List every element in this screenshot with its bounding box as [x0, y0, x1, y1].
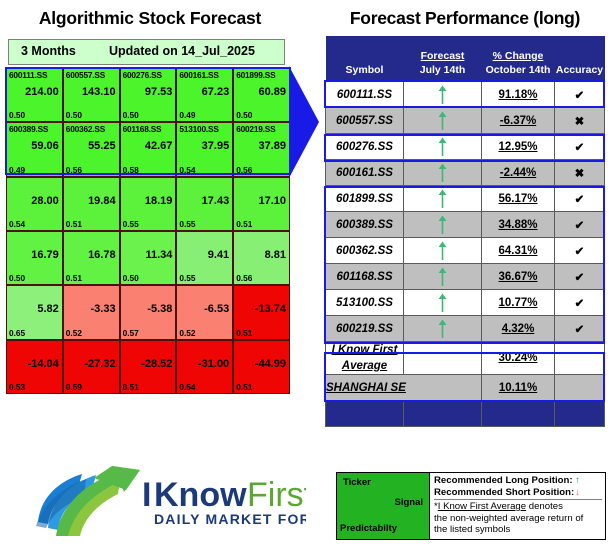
forecast-period-bar: 3 Months Updated on 14_Jul_2025: [8, 39, 285, 65]
cell-average-change: 30.24%: [482, 342, 555, 375]
cell-accuracy-check-icon: ✔: [555, 134, 605, 160]
heatmap-cell-predictability: 0.49: [179, 110, 195, 120]
cell-forecast-signal: [404, 160, 482, 186]
cell-forecast-signal: [404, 186, 482, 212]
heatmap-cell-predictability: 0.51: [236, 328, 252, 338]
heatmap-cell: -28.520.51: [120, 340, 177, 394]
heatmap-cell-signal: 59.06: [31, 140, 59, 152]
legend-down-arrow-icon: ↓: [575, 487, 580, 499]
cell-percent-change: 10.77%: [482, 290, 555, 316]
heatmap-cell-signal: 5.82: [37, 303, 58, 315]
heatmap-cell-signal: 214.00: [25, 86, 59, 98]
heatmap-cell: 600557.SS143.100.50: [63, 68, 120, 122]
cell-percent-change-value: -2.44%: [500, 167, 536, 179]
cell-percent-change-value: 64.31%: [498, 245, 537, 257]
up-arrow-icon: [437, 189, 448, 209]
legend-divider: [434, 499, 602, 500]
cell-percent-change: 36.67%: [482, 264, 555, 290]
heatmap-cell-signal: -44.99: [255, 358, 286, 370]
column-header-forecast-top: Forecast: [404, 50, 482, 64]
column-header-forecast-bottom: July 14th: [404, 64, 482, 81]
heatmap-cell: -5.380.57: [120, 285, 177, 339]
cell-average-accuracy: [555, 342, 605, 375]
heatmap-cell: 16.790.50: [6, 231, 63, 285]
up-arrow-icon: [437, 267, 448, 287]
cell-symbol: 601899.SS: [326, 186, 404, 212]
heatmap-cell: -31.000.54: [176, 340, 233, 394]
legend-long-position-line: Recommended Long Position: ↑: [434, 475, 602, 487]
heatmap-cell: 600219.SS37.890.56: [233, 122, 290, 176]
iknowfirst-logo-icon: I Know First DAILY MARKET FORECAST: [34, 466, 306, 540]
cell-forecast-signal: [404, 264, 482, 290]
forecast-performance-panel: Forecast Performance (long) Symbol Forec…: [322, 0, 607, 460]
heatmap-cell-predictability: 0.50: [123, 110, 139, 120]
heatmap-cell-predictability: 0.49: [9, 165, 25, 175]
heatmap-cell-predictability: 0.50: [236, 110, 252, 120]
heatmap-cell-signal: 8.81: [265, 249, 286, 261]
svg-text:Know: Know: [154, 476, 247, 514]
cell-percent-change: 56.17%: [482, 186, 555, 212]
heatmap-cell-predictability: 0.65: [9, 328, 25, 338]
heatmap-cell: -6.530.52: [176, 285, 233, 339]
heatmap-cell-signal: 9.41: [208, 249, 229, 261]
heatmap-cell-predictability: 0.51: [236, 219, 252, 229]
cell-accuracy-check-icon: ✔: [555, 212, 605, 238]
cell-percent-change-value: 34.88%: [498, 219, 537, 231]
cell-average-label-line2: Average: [326, 358, 403, 374]
cell-index-accuracy: [555, 375, 605, 401]
heatmap-cell: 600111.SS214.000.50: [6, 68, 63, 122]
legend-short-position-text: Recommended Short Position:: [434, 487, 574, 498]
heatmap-cell-signal: 19.84: [88, 195, 116, 207]
cell-forecast-signal: [404, 290, 482, 316]
table-row-average: I Know FirstAverage30.24%: [326, 342, 605, 375]
legend-long-position-text: Recommended Long Position:: [434, 475, 573, 486]
heatmap-cell: 28.000.54: [6, 177, 63, 231]
heatmap-cell-signal: 17.43: [202, 195, 230, 207]
heatmap-cell-predictability: 0.55: [179, 219, 195, 229]
cell-average-label: I Know FirstAverage: [326, 342, 404, 375]
heatmap-cell-signal: 60.89: [258, 86, 286, 98]
heatmap-cell-signal: 11.34: [145, 249, 172, 261]
heatmap-cell-signal: -27.32: [84, 358, 115, 370]
heatmap-cell-predictability: 0.51: [123, 382, 139, 392]
legend-note: *I Know First Average denotes the non-we…: [434, 501, 602, 536]
heatmap-cell-signal: -5.38: [147, 303, 172, 315]
performance-table-body: 600111.SS91.18%✔600557.SS-6.37%✖600276.S…: [326, 82, 605, 427]
heatmap-cell-predictability: 0.52: [179, 328, 195, 338]
heatmap-cell-symbol: 513100.SS: [179, 124, 218, 134]
heatmap-cell-signal: 42.67: [145, 140, 173, 152]
heatmap-cell: -14.040.53: [6, 340, 63, 394]
cell-average-forecast: [404, 342, 482, 375]
table-footer-band: [326, 401, 605, 427]
column-header-symbol-label: Symbol: [326, 64, 404, 81]
table-row[interactable]: 600276.SS12.95%✔: [326, 134, 605, 160]
cell-percent-change-value: 4.32%: [502, 323, 535, 335]
legend-note-suffix: denotes: [526, 501, 563, 512]
heatmap-cell-signal: 67.23: [202, 86, 230, 98]
cell-accuracy-check-icon: ✔: [555, 238, 605, 264]
heatmap-cell-symbol: 600111.SS: [9, 70, 47, 80]
legend-up-arrow-icon: ↑: [575, 475, 580, 487]
heatmap-cell-predictability: 0.50: [9, 110, 25, 120]
heatmap-cell: 9.410.55: [176, 231, 233, 285]
legend-note-line3: the listed symbols: [434, 524, 510, 535]
cell-average-change-value: 30.24%: [498, 352, 537, 364]
cell-percent-change-value: 56.17%: [498, 193, 537, 205]
heatmap-cell: 600389.SS59.060.49: [6, 122, 63, 176]
heatmap-cell-predictability: 0.56: [66, 165, 82, 175]
svg-text:I: I: [142, 476, 151, 514]
up-arrow-icon: [437, 163, 448, 183]
heatmap-cell-predictability: 0.57: [123, 328, 139, 338]
heatmap-cell: 16.780.51: [63, 231, 120, 285]
heatmap-cell-predictability: 0.51: [66, 219, 82, 229]
up-arrow-icon: [437, 85, 448, 105]
legend-short-position-line: Recommended Short Position: ↓: [434, 487, 602, 499]
svg-text:First: First: [247, 476, 306, 514]
left-panel-title: Algorithmic Stock Forecast: [0, 8, 300, 29]
forecast-updated-label: Updated on 14_Jul_2025: [109, 44, 255, 58]
up-arrow-icon: [437, 111, 448, 131]
column-header-accuracy: Accuracy: [555, 36, 605, 82]
cell-percent-change: 34.88%: [482, 212, 555, 238]
heatmap-cell: 600161.SS67.230.49: [176, 68, 233, 122]
legend-box: Ticker Signal Predictabilty Recommended …: [336, 472, 606, 540]
cell-index-change: 10.11%: [482, 375, 555, 401]
heatmap-cell-symbol: 600276.SS: [123, 70, 162, 80]
heatmap-cell-signal: 55.25: [88, 140, 116, 152]
heatmap-cell-predictability: 0.54: [9, 219, 25, 229]
heatmap-cell: 8.810.56: [233, 231, 290, 285]
footer-cell: [555, 401, 605, 427]
footer-cell: [482, 401, 555, 427]
heatmap-cell-predictability: 0.53: [9, 382, 25, 392]
up-arrow-icon: [437, 215, 448, 235]
heatmap-cell: -13.740.51: [233, 285, 290, 339]
cell-forecast-signal: [404, 108, 482, 134]
heatmap-cell-signal: 143.10: [82, 86, 116, 98]
heatmap-cell: 17.430.55: [176, 177, 233, 231]
cell-symbol: 600389.SS: [326, 212, 404, 238]
cell-accuracy-check-icon: ✔: [555, 316, 605, 342]
cell-forecast-signal: [404, 82, 482, 108]
table-row[interactable]: 601168.SS36.67%✔: [326, 264, 605, 290]
svg-text:DAILY MARKET FORECAST: DAILY MARKET FORECAST: [154, 511, 306, 527]
heatmap-cell-signal: 16.79: [31, 249, 59, 261]
table-row-index: SHANGHAI SE10.11%: [326, 375, 605, 401]
forecast-heatmap: 600111.SS214.000.50600557.SS143.100.5060…: [6, 68, 290, 394]
algorithmic-forecast-panel: Algorithmic Stock Forecast 3 Months Upda…: [0, 0, 300, 400]
heatmap-cell-predictability: 0.52: [66, 328, 82, 338]
heatmap-cell-predictability: 0.58: [123, 165, 139, 175]
cell-symbol: 600219.SS: [326, 316, 404, 342]
heatmap-cell: 18.190.55: [120, 177, 177, 231]
cell-accuracy-check-icon: ✔: [555, 186, 605, 212]
heatmap-cell-predictability: 0.59: [66, 382, 82, 392]
heatmap-cell-signal: 16.78: [88, 249, 116, 261]
legend-description: Recommended Long Position: ↑ Recommended…: [430, 473, 605, 539]
cell-percent-change-value: 10.77%: [498, 297, 537, 309]
legend-note-line2: the non-weighted average return of: [434, 513, 583, 524]
table-row[interactable]: 600161.SS-2.44%✖: [326, 160, 605, 186]
heatmap-cell: -44.990.51: [233, 340, 290, 394]
column-header-accuracy-label: Accuracy: [555, 64, 605, 81]
heatmap-cell: -27.320.59: [63, 340, 120, 394]
table-row[interactable]: 600219.SS4.32%✔: [326, 316, 605, 342]
cell-symbol: 600111.SS: [326, 82, 404, 108]
up-arrow-icon: [437, 319, 448, 339]
cell-symbol: 601168.SS: [326, 264, 404, 290]
heatmap-cell: 601168.SS42.670.58: [120, 122, 177, 176]
performance-table: Symbol Forecast July 14th % Change Octob…: [325, 36, 605, 427]
up-arrow-icon: [437, 137, 448, 157]
right-panel-title: Forecast Performance (long): [320, 8, 610, 29]
heatmap-cell: 601899.SS60.890.50: [233, 68, 290, 122]
heatmap-cell-signal: -14.04: [28, 358, 59, 370]
cell-percent-change-value: 36.67%: [498, 271, 537, 283]
heatmap-cell-signal: 18.19: [145, 195, 173, 207]
column-header-symbol: Symbol: [326, 36, 404, 82]
heatmap-cell: 600276.SS97.530.50: [120, 68, 177, 122]
heatmap-cell-signal: -28.52: [141, 358, 172, 370]
legend-note-underlined: I Know First Average: [438, 501, 526, 512]
cell-percent-change-value: 91.18%: [498, 89, 537, 101]
table-row[interactable]: 513100.SS10.77%✔: [326, 290, 605, 316]
heatmap-cell-symbol: 600389.SS: [9, 124, 48, 134]
cell-accuracy-check-icon: ✔: [555, 290, 605, 316]
heatmap-cell-predictability: 0.54: [179, 382, 195, 392]
heatmap-cell-predictability: 0.56: [236, 165, 252, 175]
heatmap-cell-signal: 28.00: [31, 195, 59, 207]
cell-forecast-signal: [404, 238, 482, 264]
heatmap-cell: 11.340.50: [120, 231, 177, 285]
cell-accuracy-check-icon: ✔: [555, 82, 605, 108]
cell-index-label: SHANGHAI SE: [326, 375, 482, 401]
footer-cell: [404, 401, 482, 427]
heatmap-cell: 19.840.51: [63, 177, 120, 231]
cell-percent-change-value: -6.37%: [500, 115, 536, 127]
cell-average-label-line1: I Know First: [326, 342, 403, 358]
heatmap-cell-predictability: 0.51: [66, 273, 82, 283]
heatmap-cell-symbol: 600161.SS: [179, 70, 218, 80]
heatmap-cell: -3.330.52: [63, 285, 120, 339]
cell-percent-change: 91.18%: [482, 82, 555, 108]
cell-symbol: 600362.SS: [326, 238, 404, 264]
column-header-change: % Change October 14th: [482, 36, 555, 82]
cell-percent-change: -2.44%: [482, 160, 555, 186]
heatmap-cell-signal: 97.53: [145, 86, 173, 98]
cell-accuracy-cross-icon: ✖: [555, 160, 605, 186]
heatmap-cell: 513100.SS37.950.54: [176, 122, 233, 176]
column-header-change-bottom: October 14th: [482, 64, 555, 81]
heatmap-cell-predictability: 0.55: [179, 273, 195, 283]
heatmap-cell-predictability: 0.50: [9, 273, 25, 283]
up-arrow-icon: [437, 241, 448, 261]
legend-signal-label: Signal: [394, 497, 423, 508]
table-row[interactable]: 600362.SS64.31%✔: [326, 238, 605, 264]
heatmap-cell: 5.820.65: [6, 285, 63, 339]
heatmap-cell-signal: 37.95: [202, 140, 230, 152]
footer-cell: [326, 401, 404, 427]
table-header-row: Symbol Forecast July 14th % Change Octob…: [326, 36, 605, 82]
legend-predictability-label: Predictabilty: [340, 523, 397, 534]
cell-percent-change: -6.37%: [482, 108, 555, 134]
table-row[interactable]: 600389.SS34.88%✔: [326, 212, 605, 238]
cell-symbol: 600276.SS: [326, 134, 404, 160]
cell-percent-change: 12.95%: [482, 134, 555, 160]
heatmap-cell-symbol: 600362.SS: [66, 124, 105, 134]
table-row[interactable]: 601899.SS56.17%✔: [326, 186, 605, 212]
heatmap-cell-predictability: 0.55: [123, 219, 139, 229]
cell-accuracy-cross-icon: ✖: [555, 108, 605, 134]
cell-forecast-signal: [404, 212, 482, 238]
cell-forecast-signal: [404, 134, 482, 160]
heatmap-cell-symbol: 601168.SS: [123, 124, 162, 134]
right-arrow-icon: [289, 66, 319, 178]
cell-symbol: 513100.SS: [326, 290, 404, 316]
heatmap-cell-signal: -13.74: [255, 303, 286, 315]
cell-percent-change: 64.31%: [482, 238, 555, 264]
cell-symbol: 600557.SS: [326, 108, 404, 134]
heatmap-cell-signal: -6.53: [204, 303, 229, 315]
heatmap-cell-predictability: 0.51: [236, 382, 252, 392]
heatmap-cell-signal: -31.00: [198, 358, 229, 370]
heatmap-cell-signal: -3.33: [91, 303, 116, 315]
legend-cell-key: Ticker Signal Predictabilty: [337, 473, 430, 539]
cell-index-change-value: 10.11%: [499, 382, 537, 394]
legend-ticker-label: Ticker: [343, 477, 371, 488]
cell-percent-change: 4.32%: [482, 316, 555, 342]
column-header-change-top: % Change: [482, 50, 555, 64]
heatmap-cell-predictability: 0.56: [236, 273, 252, 283]
heatmap-cell-signal: 17.10: [258, 195, 286, 207]
cell-forecast-signal: [404, 316, 482, 342]
cell-percent-change-value: 12.95%: [498, 141, 537, 153]
heatmap-cell-symbol: 600219.SS: [236, 124, 275, 134]
column-header-forecast: Forecast July 14th: [404, 36, 482, 82]
heatmap-cell-predictability: 0.50: [123, 273, 139, 283]
heatmap-cell-predictability: 0.54: [179, 165, 195, 175]
up-arrow-icon: [437, 293, 448, 313]
forecast-horizon-label: 3 Months: [21, 44, 76, 58]
table-row[interactable]: 600111.SS91.18%✔: [326, 82, 605, 108]
heatmap-cell-signal: 37.89: [258, 140, 286, 152]
heatmap-cell: 600362.SS55.250.56: [63, 122, 120, 176]
heatmap-cell-symbol: 600557.SS: [66, 70, 105, 80]
table-row[interactable]: 600557.SS-6.37%✖: [326, 108, 605, 134]
heatmap-cell-symbol: 601899.SS: [236, 70, 275, 80]
cell-accuracy-check-icon: ✔: [555, 264, 605, 290]
cell-symbol: 600161.SS: [326, 160, 404, 186]
heatmap-cell: 17.100.51: [233, 177, 290, 231]
heatmap-cell-predictability: 0.50: [66, 110, 82, 120]
